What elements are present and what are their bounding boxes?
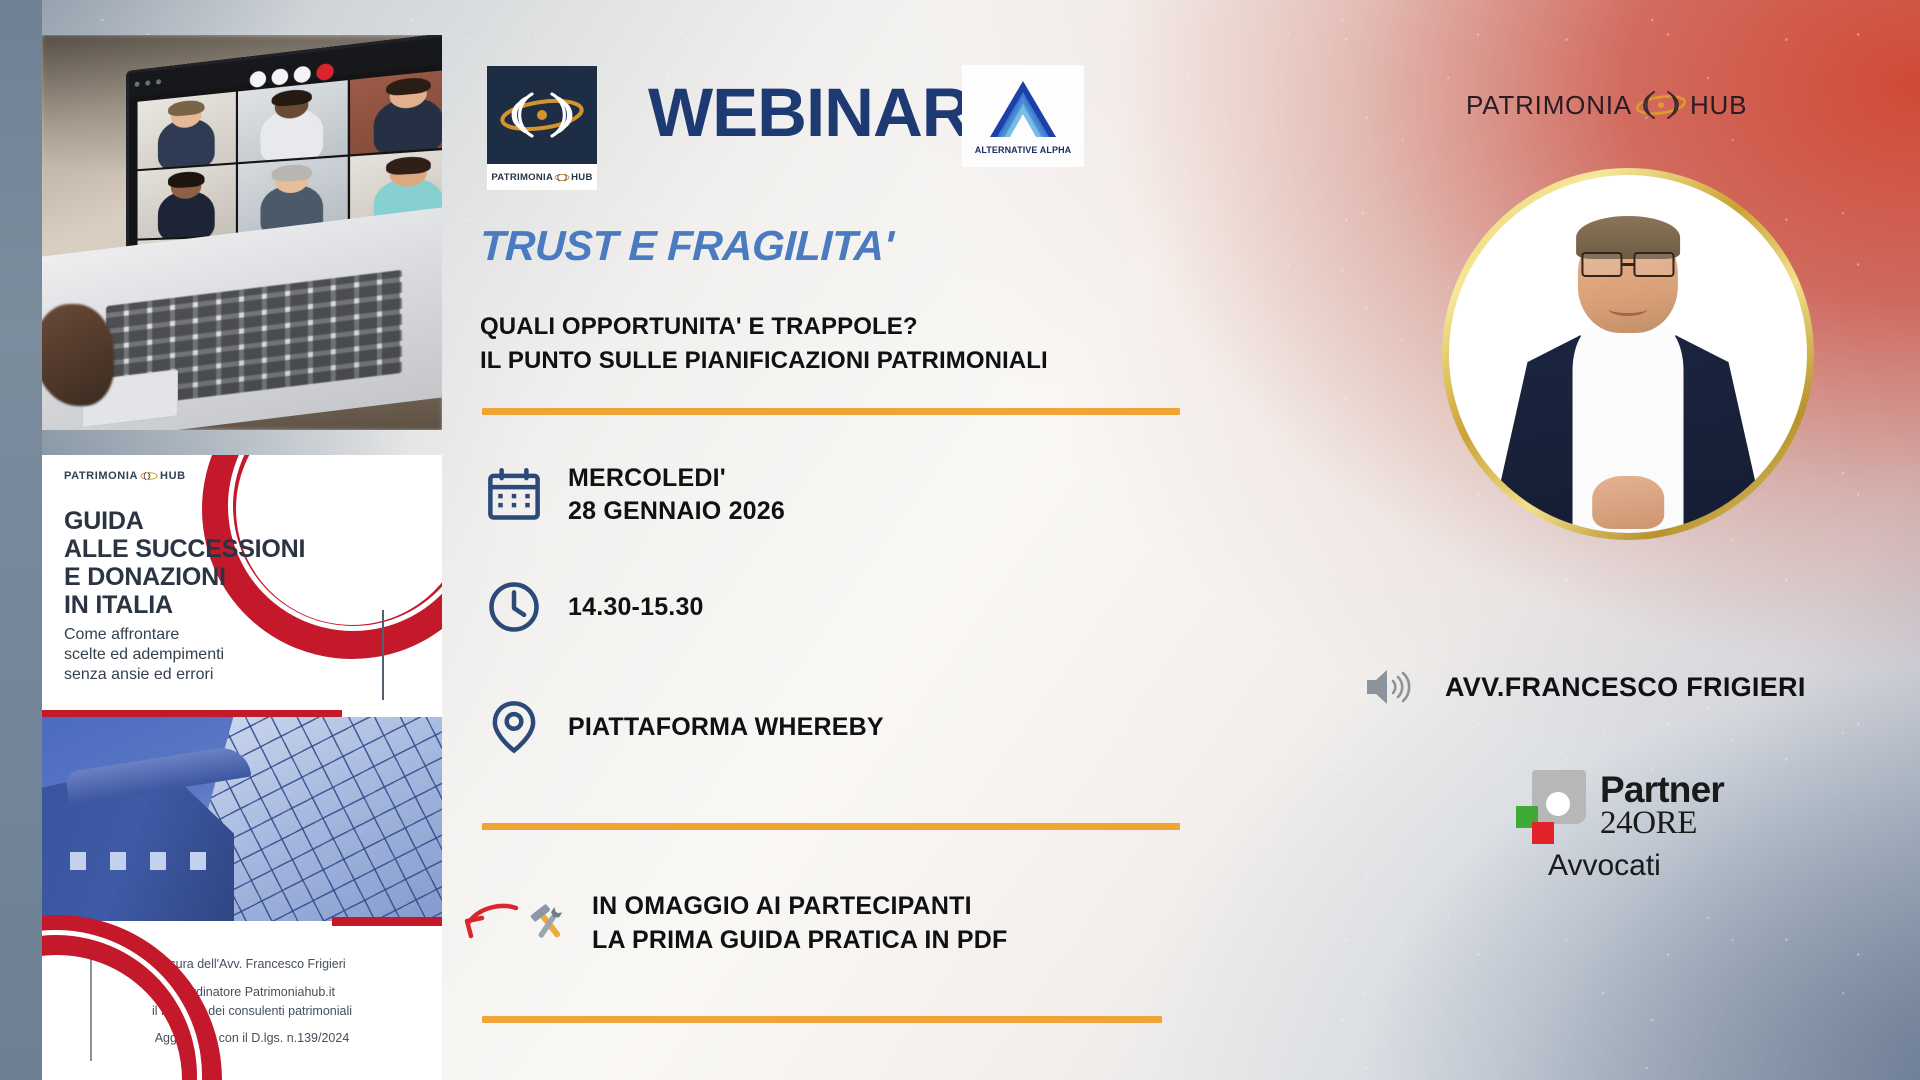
speaker-portrait [1449, 175, 1807, 533]
event-date-text: MERCOLEDI' 28 GENNAIO 2026 [568, 462, 785, 528]
alternative-alpha-triangle-icon [986, 77, 1060, 143]
webinar-heading: WEBINAR [648, 64, 978, 160]
subtitle-line-2: IL PUNTO SULLE PIANIFICAZIONI PATRIMONIA… [480, 344, 1200, 378]
laptop-video-call-photo [42, 35, 442, 430]
book-title: GUIDA ALLE SUCCESSIONI E DONAZIONI IN IT… [64, 507, 354, 619]
alternative-alpha-label: ALTERNATIVE ALPHA [975, 145, 1072, 155]
calendar-icon [487, 468, 541, 522]
book-title-line-1: GUIDA [64, 507, 354, 535]
participant-tile [138, 91, 236, 169]
divider-bottom [482, 1016, 1162, 1023]
speaker-portrait-ring [1442, 168, 1814, 540]
book-subtitle-line-3: senza ansie ed errori [64, 665, 344, 685]
location-pin-icon [487, 700, 541, 754]
speaker-row: AVV.FRANCESCO FRIGIERI [1363, 665, 1806, 709]
participant-tile [138, 164, 236, 238]
hammer-and-wrench-icon [528, 904, 570, 944]
event-time-row: 14.30-15.30 [487, 580, 704, 634]
gift-line-1: IN OMAGGIO AI PARTECIPANTI [592, 890, 1008, 924]
sound-wave-icon [140, 470, 158, 482]
sound-wave-icon [1635, 88, 1687, 122]
page-subtitle: QUALI OPPORTUNITA' E TRAPPOLE? IL PUNTO … [480, 310, 1200, 378]
partner24ore-mark-icon [1516, 770, 1586, 840]
book-logo-text: PATRIMONIA [64, 470, 138, 482]
book-red-bar-bottom [332, 917, 442, 926]
participant-tile [349, 67, 442, 154]
book-title-line-3: E DONAZIONI [64, 563, 354, 591]
event-location-text: PIATTAFORMA WHEREBY [568, 711, 884, 744]
sound-wave-icon [499, 85, 585, 145]
book-title-line-4: IN ITALIA [64, 591, 354, 619]
book-cover-guida: PATRIMONIA HUB GUIDA ALLE SUCCESSIONI E … [42, 455, 442, 1080]
loudspeaker-icon [1363, 665, 1417, 709]
wordmark-text: PATRIMONIA [1466, 90, 1632, 121]
gift-offer-text: IN OMAGGIO AI PARTECIPANTI LA PRIMA GUID… [592, 890, 1008, 957]
logo-caption-suffix: HUB [571, 172, 592, 183]
patrimonia-hub-logo-caption: PATRIMONIA HUB [487, 164, 597, 190]
event-location-row: PIATTAFORMA WHEREBY [487, 700, 884, 754]
24ore-label: 24ORE [1600, 807, 1724, 841]
book-patrimonia-hub-logo: PATRIMONIA HUB [64, 470, 186, 482]
book-subtitle-line-1: Come affrontare [64, 625, 344, 645]
event-time-text: 14.30-15.30 [568, 591, 704, 624]
divider-middle [482, 823, 1180, 830]
partner24ore-logo: Partner 24ORE Avvocati [1516, 770, 1806, 883]
patrimonia-hub-logo-box [487, 66, 597, 164]
curved-arrow-left-icon [462, 901, 520, 947]
left-edge-strip [0, 0, 42, 1080]
divider-top [482, 408, 1180, 415]
book-subtitle-line-2: scelte ed adempimenti [64, 645, 344, 665]
book-logo-suffix: HUB [160, 470, 186, 482]
speaker-name: AVV.FRANCESCO FRIGIERI [1445, 672, 1806, 703]
event-date-day: MERCOLEDI' [568, 462, 785, 495]
book-subtitle: Come affrontare scelte ed adempimenti se… [64, 625, 344, 685]
partner-label: Partner [1600, 772, 1724, 807]
subtitle-line-1: QUALI OPPORTUNITA' E TRAPPOLE? [480, 310, 1200, 344]
event-date-full: 28 GENNAIO 2026 [568, 495, 785, 528]
clock-icon [487, 580, 541, 634]
sound-wave-icon [554, 172, 570, 183]
participant-tile [238, 79, 347, 161]
gift-line-2: LA PRIMA GUIDA PRATICA IN PDF [592, 924, 1008, 958]
wordmark-suffix: HUB [1690, 90, 1747, 121]
event-date-row: MERCOLEDI' 28 GENNAIO 2026 [487, 462, 785, 528]
book-divider-rule [382, 610, 384, 700]
book-title-line-2: ALLE SUCCESSIONI [64, 535, 354, 563]
page-title: TRUST E FRAGILITA' [479, 222, 894, 270]
avvocati-label: Avvocati [1548, 849, 1806, 883]
alternative-alpha-logo: ALTERNATIVE ALPHA [962, 65, 1084, 167]
gift-offer-row: IN OMAGGIO AI PARTECIPANTI LA PRIMA GUID… [462, 890, 1008, 957]
book-cover-building-photo [42, 717, 442, 921]
logo-caption-text: PATRIMONIA [491, 172, 553, 183]
patrimonia-hub-wordmark: PATRIMONIA HUB [1466, 88, 1747, 122]
